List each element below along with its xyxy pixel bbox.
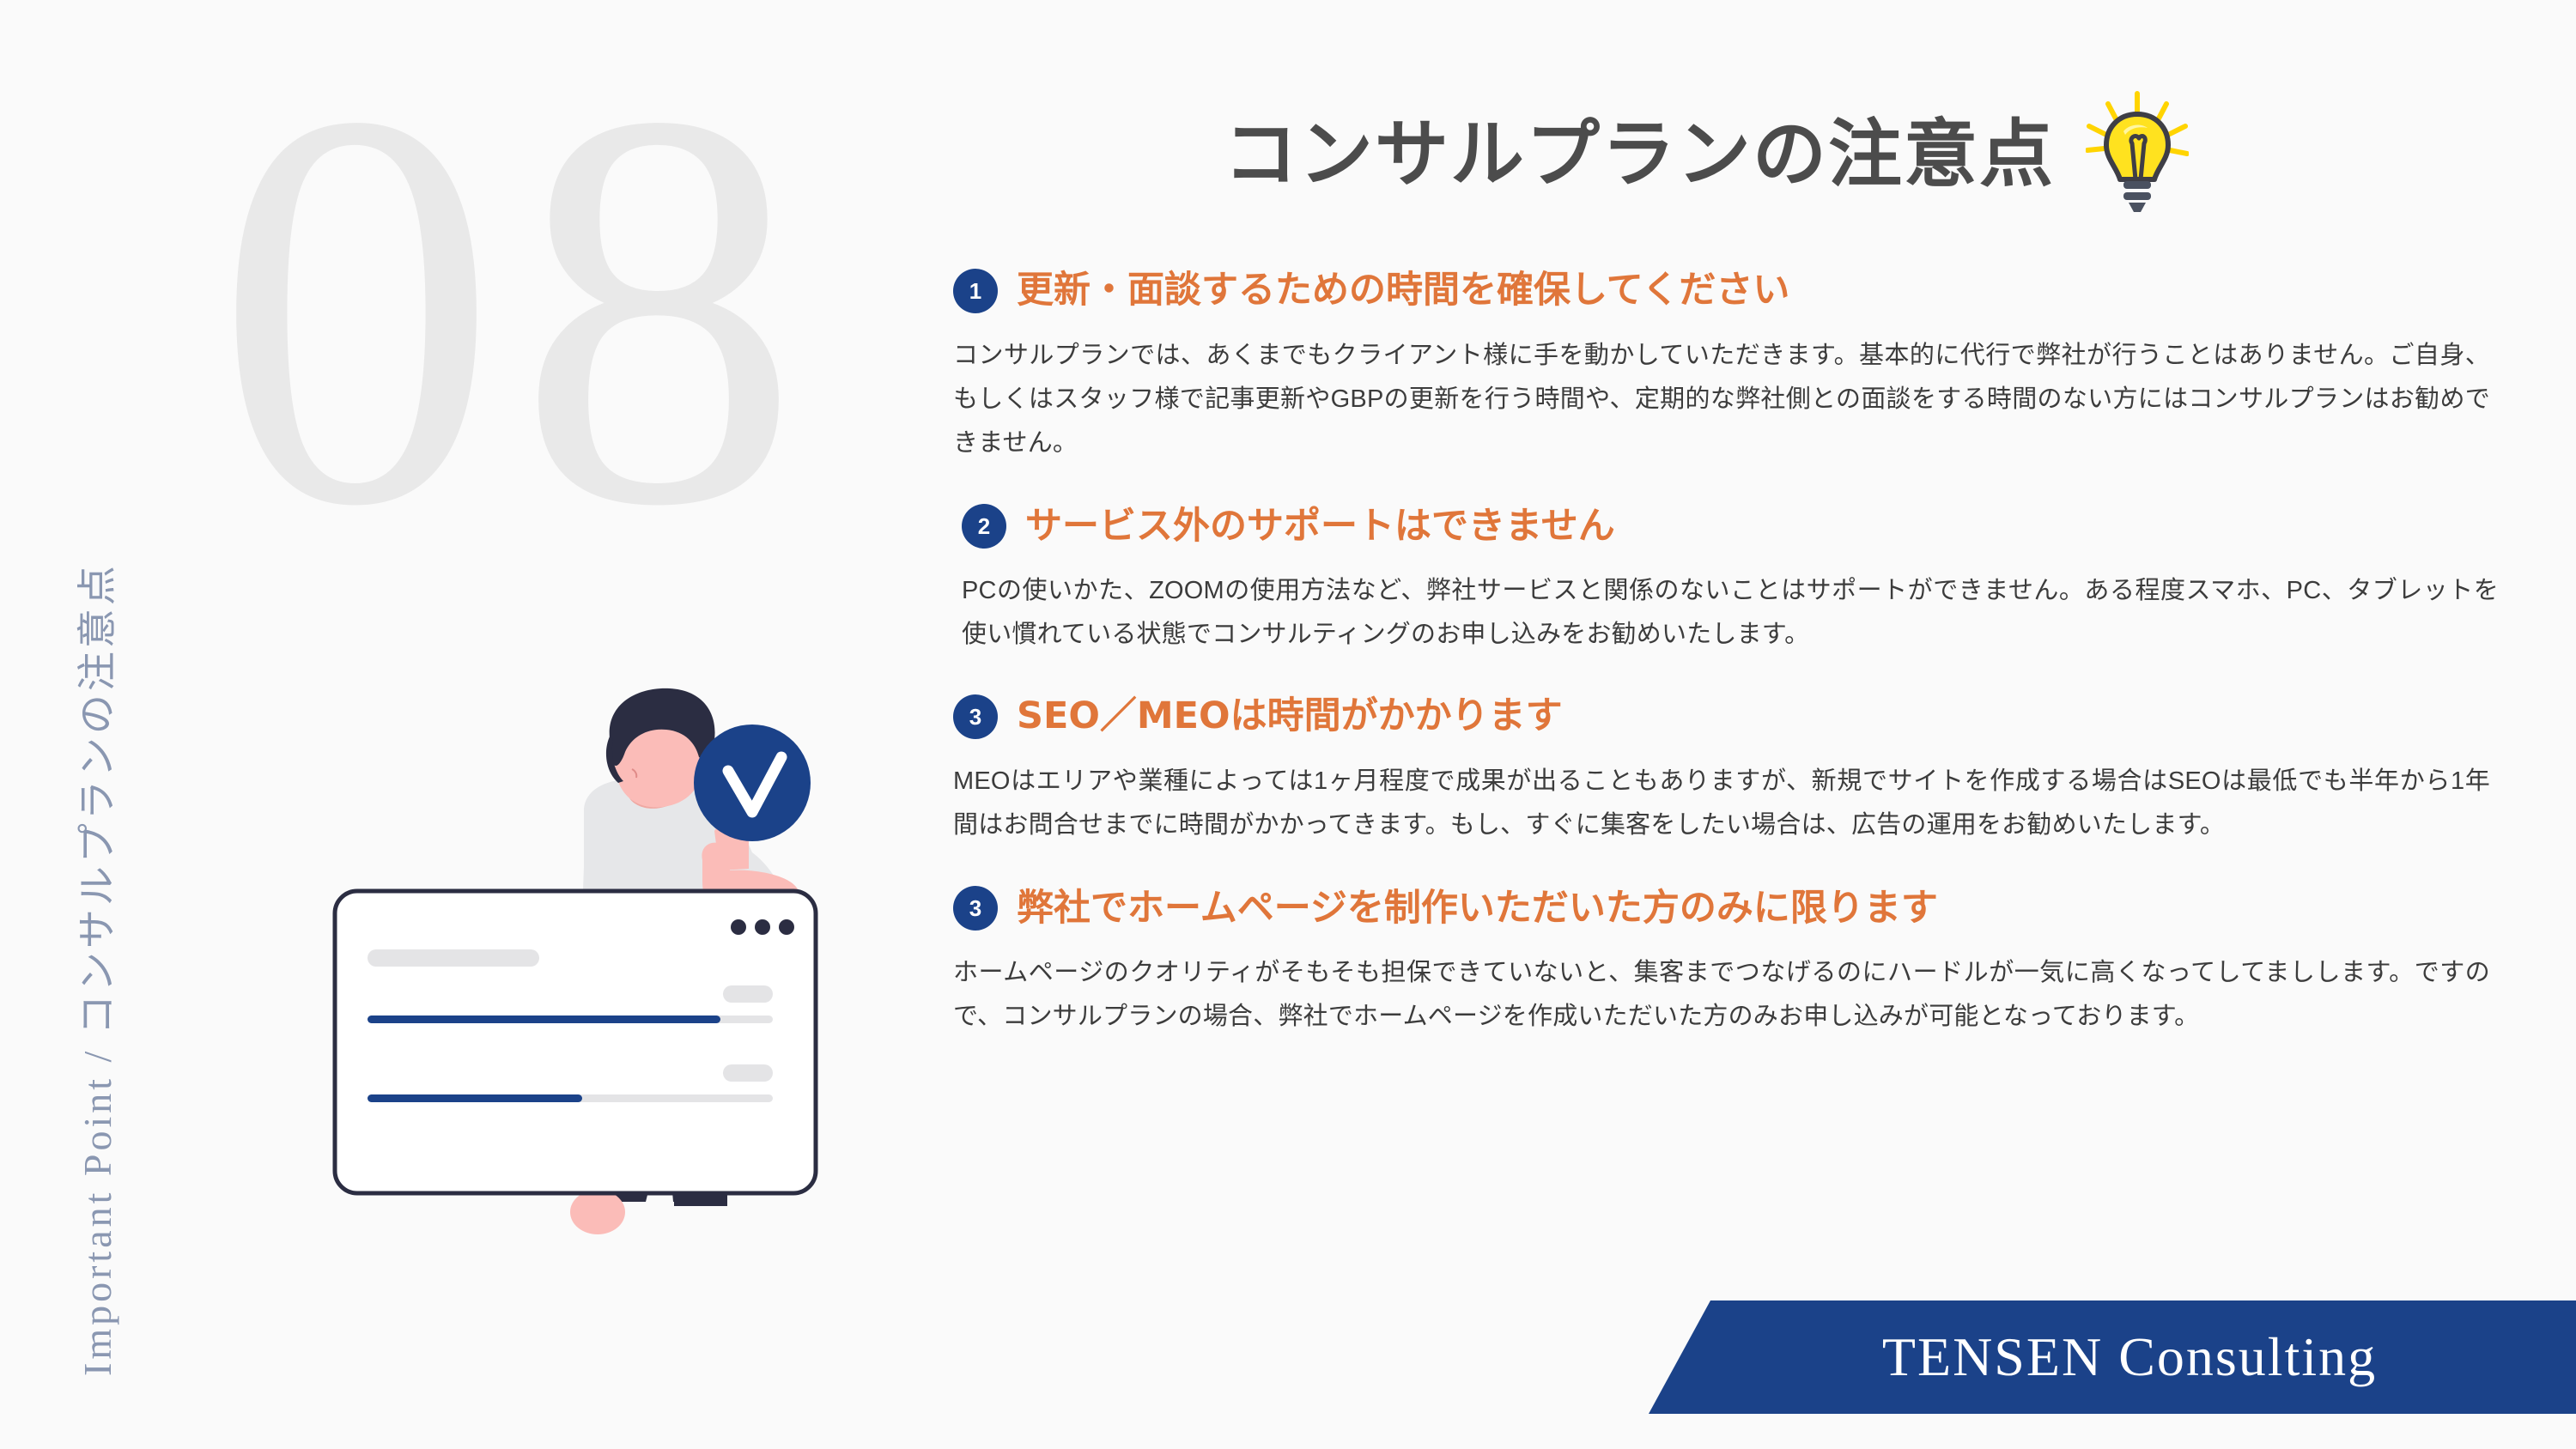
section-4-heading: 3 弊社でホームページを制作いただいた方のみに限ります xyxy=(953,886,2576,931)
side-rail: Important Point / コンサルプランの注意点 xyxy=(0,0,120,1449)
section-2-heading: 2 サービス外のサポートはできません xyxy=(962,504,2576,549)
side-rail-label: Important Point / コンサルプランの注意点 xyxy=(66,0,123,1376)
check-circle-icon xyxy=(694,724,811,841)
section-1: 1 更新・面談するための時間を確保してください コンサルプランでは、あくまでもク… xyxy=(953,269,2576,464)
content-column: コンサルプランの注意点 xyxy=(953,0,2576,1449)
section-4-title: 弊社でホームページを制作いただいた方のみに限ります xyxy=(1017,888,1938,929)
footer-brand-text: TENSEN Consulting xyxy=(1848,1325,2377,1389)
browser-window-mock xyxy=(335,891,816,1193)
section-1-heading: 1 更新・面談するための時間を確保してください xyxy=(953,269,2576,313)
section-4: 3 弊社でホームページを制作いただいた方のみに限ります ホームページのクオリティ… xyxy=(953,886,2576,1039)
watermark-number: 08 xyxy=(215,26,819,592)
section-2-title: サービス外のサポートはできません xyxy=(1025,506,1615,547)
section-4-body: ホームページのクオリティがそもそも担保できていないと、集客までつなげるのにハード… xyxy=(953,951,2490,1039)
section-1-body: コンサルプランでは、あくまでもクライアント様に手を動かしていただきます。基本的に… xyxy=(953,334,2490,464)
section-2-number-badge: 2 xyxy=(962,504,1006,549)
page-title-row: コンサルプランの注意点 xyxy=(1224,90,2576,219)
section-1-title: 更新・面談するための時間を確保してください xyxy=(1017,270,1789,311)
section-3-number-badge: 3 xyxy=(953,694,998,739)
section-3-title: SEO／MEOは時間がかかります xyxy=(1017,696,1563,737)
lightbulb-icon xyxy=(2086,90,2189,219)
page-title: コンサルプランの注意点 xyxy=(1224,118,2055,191)
section-3: 3 SEO／MEOは時間がかかります MEOはエリアや業種によっては1ヶ月程度で… xyxy=(953,694,2576,847)
footer-brand-banner: TENSEN Consulting xyxy=(1649,1300,2576,1414)
section-2-body: PCの使いかた、ZOOMの使用方法など、弊社サービスと関係のないことはサポートが… xyxy=(962,569,2499,657)
section-2: 2 サービス外のサポートはできません PCの使いかた、ZOOMの使用方法など、弊… xyxy=(962,504,2576,657)
section-4-number-badge: 3 xyxy=(953,886,998,931)
person-with-browser-window-illustration xyxy=(326,687,859,1236)
section-3-heading: 3 SEO／MEOは時間がかかります xyxy=(953,694,2576,739)
section-3-body: MEOはエリアや業種によっては1ヶ月程度で成果が出ることもありますが、新規でサイ… xyxy=(953,760,2490,847)
section-1-number-badge: 1 xyxy=(953,269,998,313)
